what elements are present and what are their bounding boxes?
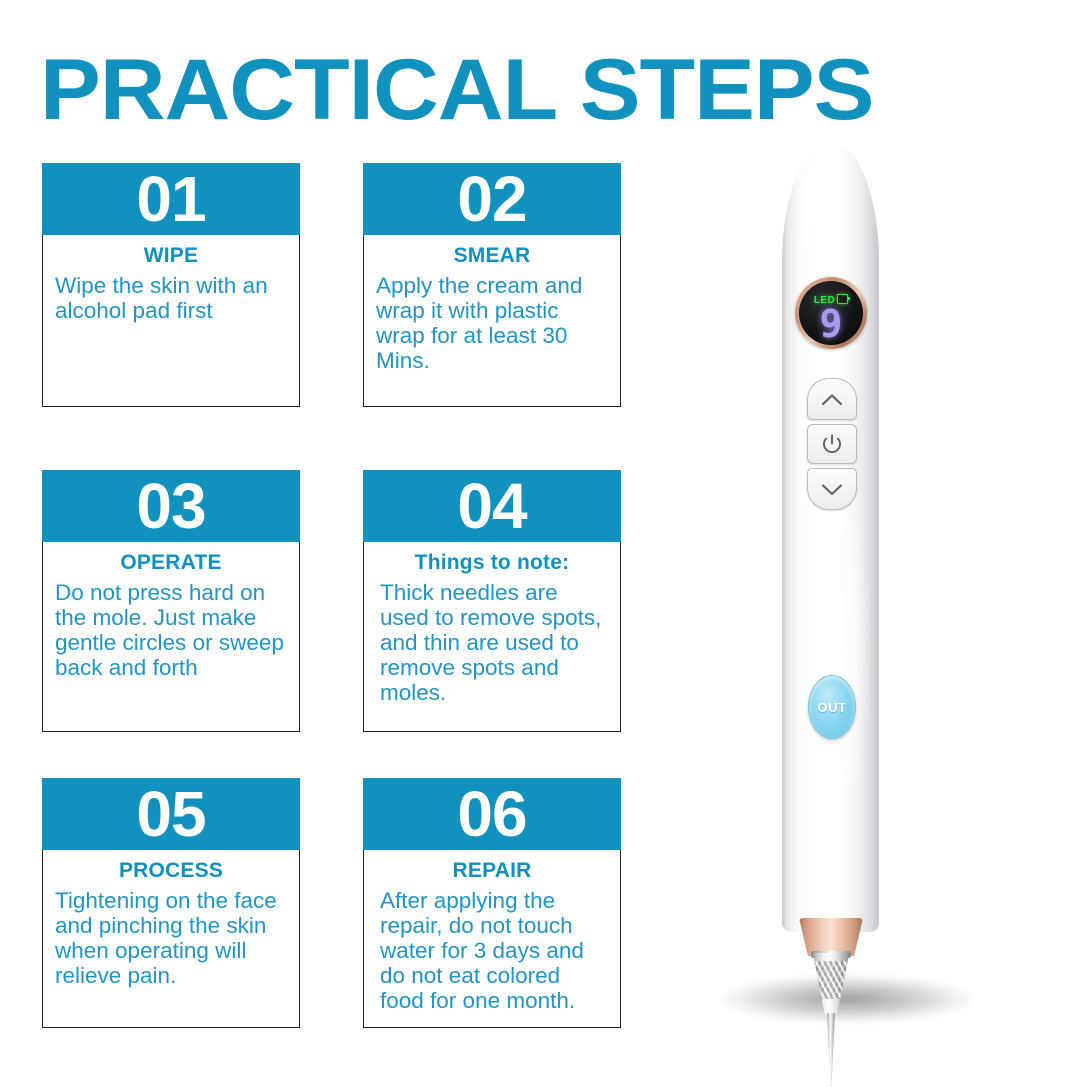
step-text: Do not press hard on the mole. Just make…: [53, 580, 289, 680]
pen-drop-shadow: [722, 975, 972, 1023]
step-number: 03: [136, 474, 205, 538]
step-text: Thick needles are used to remove spots, …: [374, 580, 610, 705]
step-title: PROCESS: [53, 858, 289, 884]
step-card-03: 03 OPERATE Do not press hard on the mole…: [42, 470, 300, 732]
step-card-header: 06: [363, 778, 621, 850]
step-card-header: 04: [363, 470, 621, 542]
step-card-body: REPAIR After applying the repair, do not…: [363, 850, 621, 1028]
step-text: Wipe the skin with an alcohol pad first: [53, 273, 289, 323]
step-card-body: PROCESS Tightening on the face and pinch…: [42, 850, 300, 1028]
level-down-button[interactable]: [807, 468, 857, 510]
step-card-05: 05 PROCESS Tightening on the face and pi…: [42, 778, 300, 1028]
step-card-01: 01 WIPE Wipe the skin with an alcohol pa…: [42, 163, 300, 407]
led-display-screen: LED 9: [799, 281, 863, 345]
led-level-digit: 9: [799, 305, 863, 343]
step-text: Tightening on the face and pinching the …: [53, 888, 289, 988]
step-text: Apply the cream and wrap it with plastic…: [374, 273, 610, 373]
step-card-header: 02: [363, 163, 621, 235]
step-card-header: 03: [42, 470, 300, 542]
step-card-body: WIPE Wipe the skin with an alcohol pad f…: [42, 235, 300, 407]
out-button[interactable]: OUT: [808, 675, 856, 739]
led-display-bezel: LED 9: [795, 277, 867, 349]
step-title: Things to note:: [374, 550, 610, 576]
step-title: SMEAR: [374, 243, 610, 269]
step-title: WIPE: [53, 243, 289, 269]
step-card-02: 02 SMEAR Apply the cream and wrap it wit…: [363, 163, 621, 407]
step-card-body: OPERATE Do not press hard on the mole. J…: [42, 542, 300, 732]
step-card-06: 06 REPAIR After applying the repair, do …: [363, 778, 621, 1028]
step-number: 06: [457, 782, 526, 846]
step-number: 05: [136, 782, 205, 846]
out-button-label: OUT: [817, 700, 846, 715]
step-number: 04: [457, 474, 526, 538]
power-button[interactable]: [807, 424, 857, 464]
mole-removal-pen-image: LED 9 OUT: [660, 120, 1060, 1040]
power-icon: [821, 433, 843, 455]
pen-body: [782, 142, 879, 932]
step-title: OPERATE: [53, 550, 289, 576]
pen-needle-tip: [827, 1013, 835, 1087]
infographic-page: PRACTICAL STEPS 01 WIPE Wipe the skin wi…: [0, 0, 1080, 1080]
step-card-04: 04 Things to note: Thick needles are use…: [363, 470, 621, 732]
steps-grid: 01 WIPE Wipe the skin with an alcohol pa…: [42, 163, 622, 1043]
chevron-down-icon: [821, 483, 843, 496]
step-card-header: 05: [42, 778, 300, 850]
step-number: 01: [136, 167, 205, 231]
step-number: 02: [457, 167, 526, 231]
step-title: REPAIR: [374, 858, 610, 884]
step-card-body: SMEAR Apply the cream and wrap it with p…: [363, 235, 621, 407]
chevron-up-icon: [821, 393, 843, 406]
step-card-header: 01: [42, 163, 300, 235]
level-up-button[interactable]: [807, 378, 857, 420]
step-card-body: Things to note: Thick needles are used t…: [363, 542, 621, 732]
step-text: After applying the repair, do not touch …: [374, 888, 610, 1013]
